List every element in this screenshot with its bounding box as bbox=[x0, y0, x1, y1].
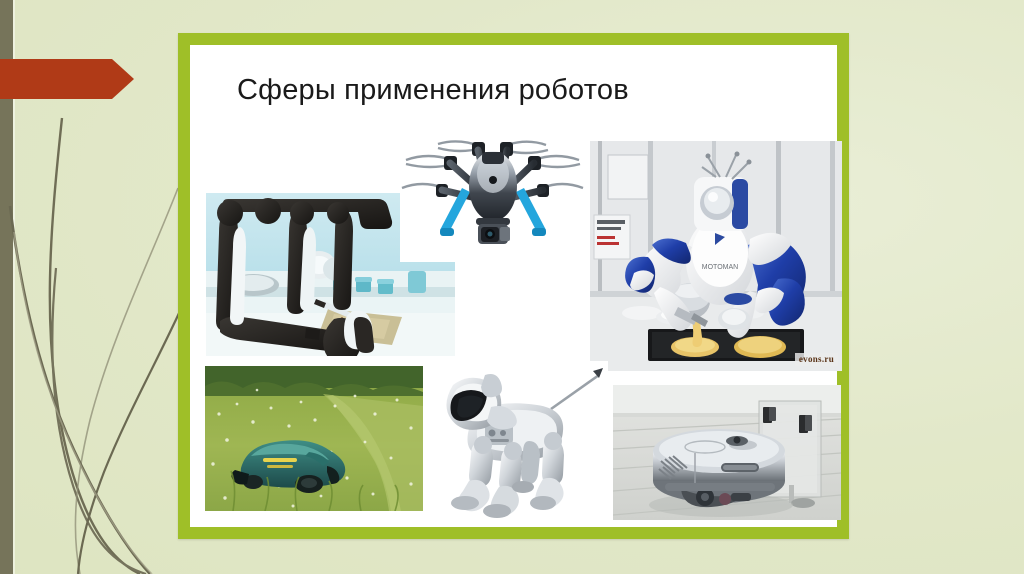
slide: Сферы применения роботов bbox=[0, 0, 1024, 574]
content-card: Сферы применения роботов bbox=[190, 45, 837, 527]
photo-watermark: evons.ru bbox=[795, 353, 838, 366]
photo-robot-vacuum bbox=[613, 385, 841, 520]
right-arrow-banner bbox=[0, 59, 134, 99]
svg-text:MOTOMAN: MOTOMAN bbox=[702, 264, 738, 271]
content-frame: Сферы применения роботов bbox=[178, 33, 849, 539]
photo-drone-hexacopter bbox=[400, 130, 585, 262]
page-title: Сферы применения роботов bbox=[237, 73, 629, 107]
photo-robot-dog bbox=[433, 361, 608, 526]
photo-robot-lawn-mower bbox=[205, 366, 423, 511]
photo-cooking-robot: MOTOMAN bbox=[590, 141, 842, 371]
